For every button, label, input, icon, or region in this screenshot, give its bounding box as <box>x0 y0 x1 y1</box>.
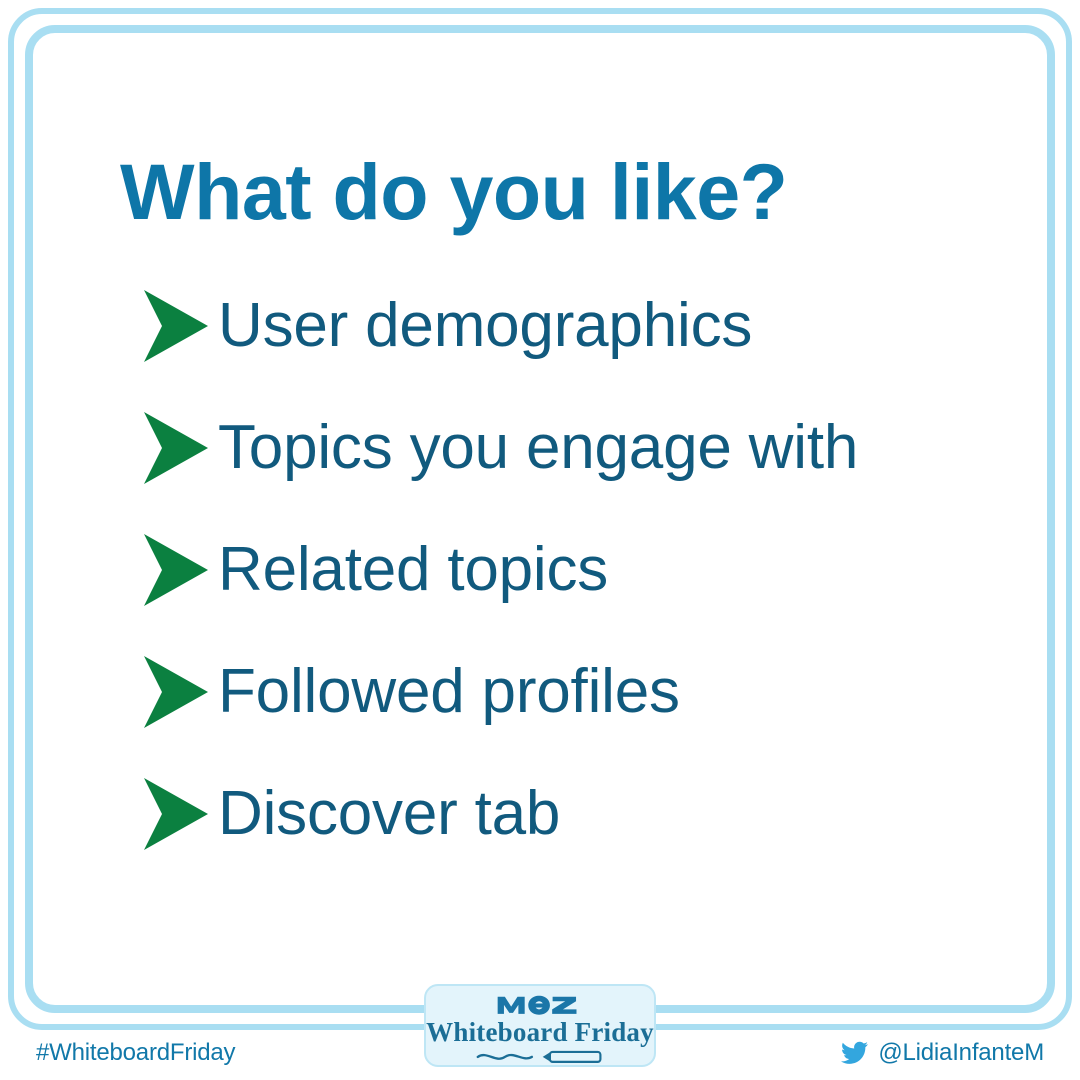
hashtag-label: #WhiteboardFriday <box>36 1039 235 1067</box>
list-item: Followed profiles <box>140 648 1040 735</box>
arrow-right-icon <box>140 532 210 608</box>
arrow-right-icon <box>140 654 210 730</box>
arrow-right-icon <box>140 288 210 364</box>
whiteboard-friday-slide: What do you like? User demographics Topi… <box>0 0 1080 1080</box>
twitter-handle-label: @LidiaInfanteM <box>878 1039 1044 1067</box>
list-item: Related topics <box>140 526 1040 613</box>
list-item-label: Discover tab <box>218 783 560 845</box>
arrow-right-icon <box>140 410 210 486</box>
list-item: Topics you engage with <box>140 404 1040 491</box>
list-item: Discover tab <box>140 770 1040 857</box>
moz-logo-icon <box>492 994 588 1016</box>
list-item-label: Topics you engage with <box>218 417 858 479</box>
bullet-list: User demographics Topics you engage with… <box>140 282 1040 892</box>
list-item-label: Related topics <box>218 539 608 601</box>
arrow-right-icon <box>140 776 210 852</box>
twitter-handle[interactable]: @LidiaInfanteM <box>841 1039 1044 1067</box>
list-item-label: Followed profiles <box>218 661 680 723</box>
list-item-label: User demographics <box>218 295 752 357</box>
moz-whiteboard-friday-badge: Whiteboard Friday <box>424 984 656 1067</box>
list-item: User demographics <box>140 282 1040 369</box>
badge-series-label: Whiteboard Friday <box>426 1018 654 1046</box>
squiggle-marker-icon <box>465 1047 615 1065</box>
twitter-bird-icon <box>841 1041 869 1065</box>
slide-title: What do you like? <box>120 152 787 231</box>
